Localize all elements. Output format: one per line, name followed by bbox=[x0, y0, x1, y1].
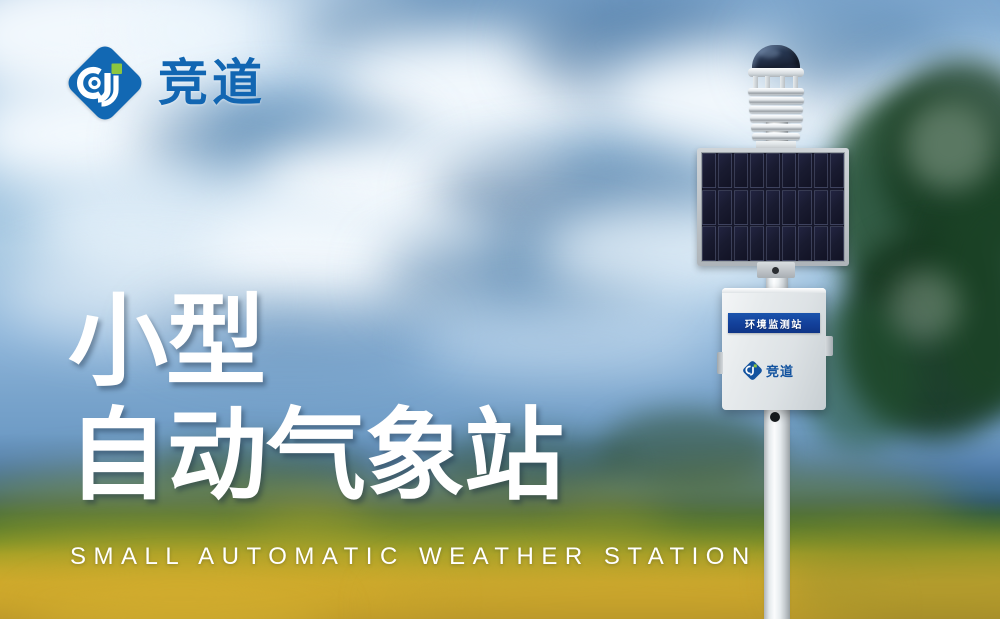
control-box-bolt bbox=[770, 412, 780, 422]
logo-glyph-icon-small bbox=[742, 360, 762, 380]
jingdao-diamond-logo-icon-small bbox=[742, 360, 762, 380]
control-box-label-text: 环境监测站 bbox=[745, 316, 803, 331]
solar-panel-bracket bbox=[757, 262, 795, 278]
subtitle-english: SMALL AUTOMATIC WEATHER STATION bbox=[70, 543, 757, 571]
headline-line-2: 自动气象站 bbox=[68, 406, 563, 506]
tree-highlight bbox=[905, 100, 995, 190]
mounting-pole-lower bbox=[764, 400, 790, 619]
control-box-left-latch bbox=[717, 352, 723, 374]
tree-highlight bbox=[890, 270, 960, 340]
headline-line-1: 小型 bbox=[68, 292, 563, 392]
solar-panel-cells bbox=[701, 152, 845, 262]
control-box-brand-logo: 竞道 bbox=[742, 360, 794, 380]
control-box: 环境监测站 竞道 bbox=[722, 288, 826, 410]
product-banner: 竞道 小型 自动气象站 SMALL AUTOMATIC WEATHER STAT… bbox=[0, 0, 1000, 619]
control-box-label-banner: 环境监测站 bbox=[728, 313, 820, 333]
control-box-brand-name: 竞道 bbox=[766, 361, 794, 380]
logo-glyph-icon bbox=[66, 44, 144, 122]
jingdao-diamond-logo-icon bbox=[66, 44, 144, 122]
brand-name: 竞道 bbox=[158, 58, 266, 108]
brand-logo[interactable]: 竞道 bbox=[66, 44, 266, 122]
control-box-right-latch bbox=[825, 336, 833, 356]
radiation-shield-icon bbox=[748, 88, 804, 144]
headline-block: 小型 自动气象站 bbox=[68, 292, 563, 506]
solar-panel-icon bbox=[697, 148, 849, 266]
control-box-top-edge bbox=[722, 288, 826, 293]
